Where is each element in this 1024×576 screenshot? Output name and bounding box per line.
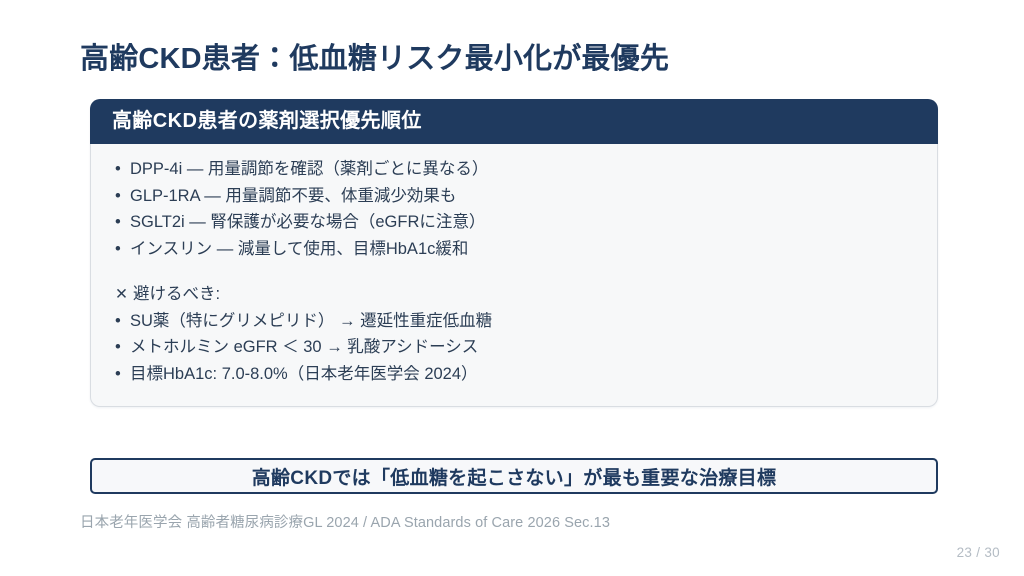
list-item: SGLT2i ― 腎保護が必要な場合（eGFRに注意）	[113, 209, 915, 236]
list-item: インスリン ― 減量して使用、目標HbA1c緩和	[113, 236, 915, 263]
drug-priority-card: 高齢CKD患者の薬剤選択優先順位 DPP-4i ― 用量調節を確認（薬剤ごとに異…	[90, 100, 938, 407]
list-item: メトホルミン eGFR ＜ 30 → 乳酸アシドーシス	[113, 334, 915, 361]
x-mark-icon: ✕	[115, 286, 128, 303]
card-body: DPP-4i ― 用量調節を確認（薬剤ごとに異なる） GLP-1RA ― 用量調…	[91, 144, 937, 406]
preferred-drug-list: DPP-4i ― 用量調節を確認（薬剤ごとに異なる） GLP-1RA ― 用量調…	[113, 156, 915, 263]
list-item: 目標HbA1c: 7.0-8.0%（日本老年医学会 2024）	[113, 361, 915, 388]
key-message-banner: 高齢CKDでは「低血糖を起こさない」が最も重要な治療目標	[90, 458, 938, 494]
slide-canvas: 高齢CKD患者：低血糖リスク最小化が最優先 高齢CKD患者の薬剤選択優先順位 D…	[0, 0, 1024, 576]
avoid-section-label: 避けるべき:	[133, 285, 220, 303]
section-spacer	[113, 263, 915, 281]
list-item: GLP-1RA ― 用量調節不要、体重減少効果も	[113, 183, 915, 210]
source-citation: 日本老年医学会 高齢者糖尿病診療GL 2024 / ADA Standards …	[80, 511, 610, 532]
avoid-drug-list: SU薬（特にグリメピリド） → 遷延性重症低血糖 メトホルミン eGFR ＜ 3…	[113, 308, 915, 388]
list-item: DPP-4i ― 用量調節を確認（薬剤ごとに異なる）	[113, 156, 915, 183]
page-number: 23 / 30	[957, 545, 1000, 560]
list-item: SU薬（特にグリメピリド） → 遷延性重症低血糖	[113, 308, 915, 335]
avoid-section-heading: ✕避けるべき:	[113, 281, 915, 308]
card-header-title: 高齢CKD患者の薬剤選択優先順位	[90, 99, 938, 144]
page-title: 高齢CKD患者：低血糖リスク最小化が最優先	[80, 41, 960, 77]
